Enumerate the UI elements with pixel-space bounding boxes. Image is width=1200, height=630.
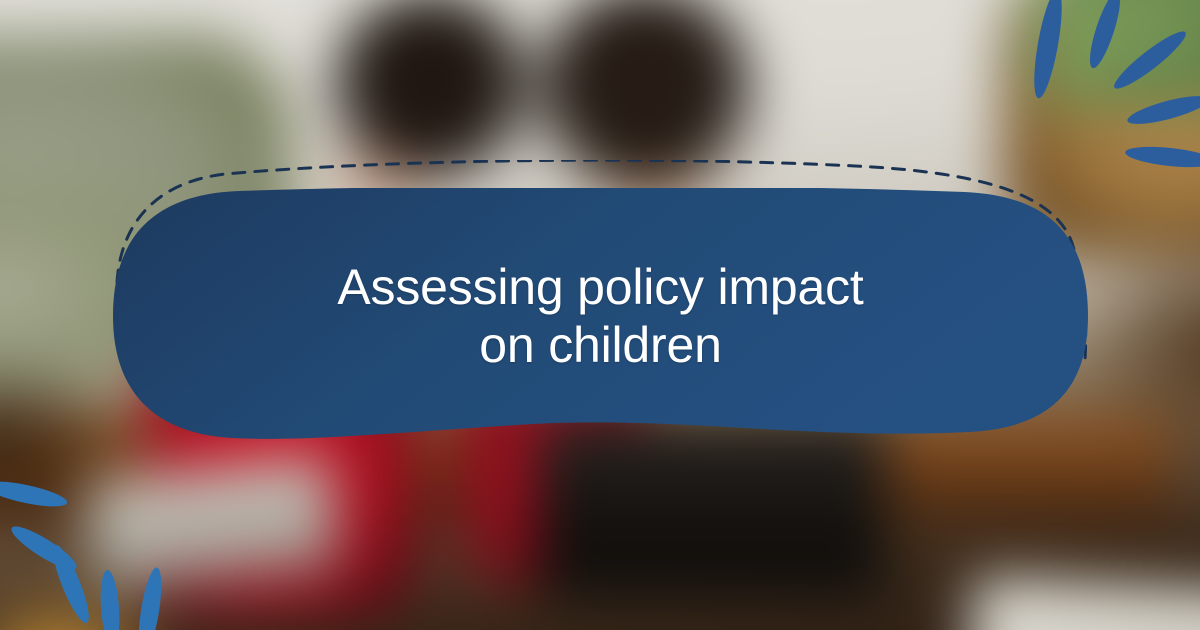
- card-text-block: Assessing policy impact on children: [113, 188, 1088, 443]
- title-card: Assessing policy impact on children: [95, 160, 1105, 455]
- page-title: Assessing policy impact on children: [337, 258, 863, 374]
- banner-canvas: Assessing policy impact on children: [0, 0, 1200, 630]
- card-body: Assessing policy impact on children: [113, 188, 1088, 443]
- sparkle-burst-bottom-left: [0, 446, 194, 630]
